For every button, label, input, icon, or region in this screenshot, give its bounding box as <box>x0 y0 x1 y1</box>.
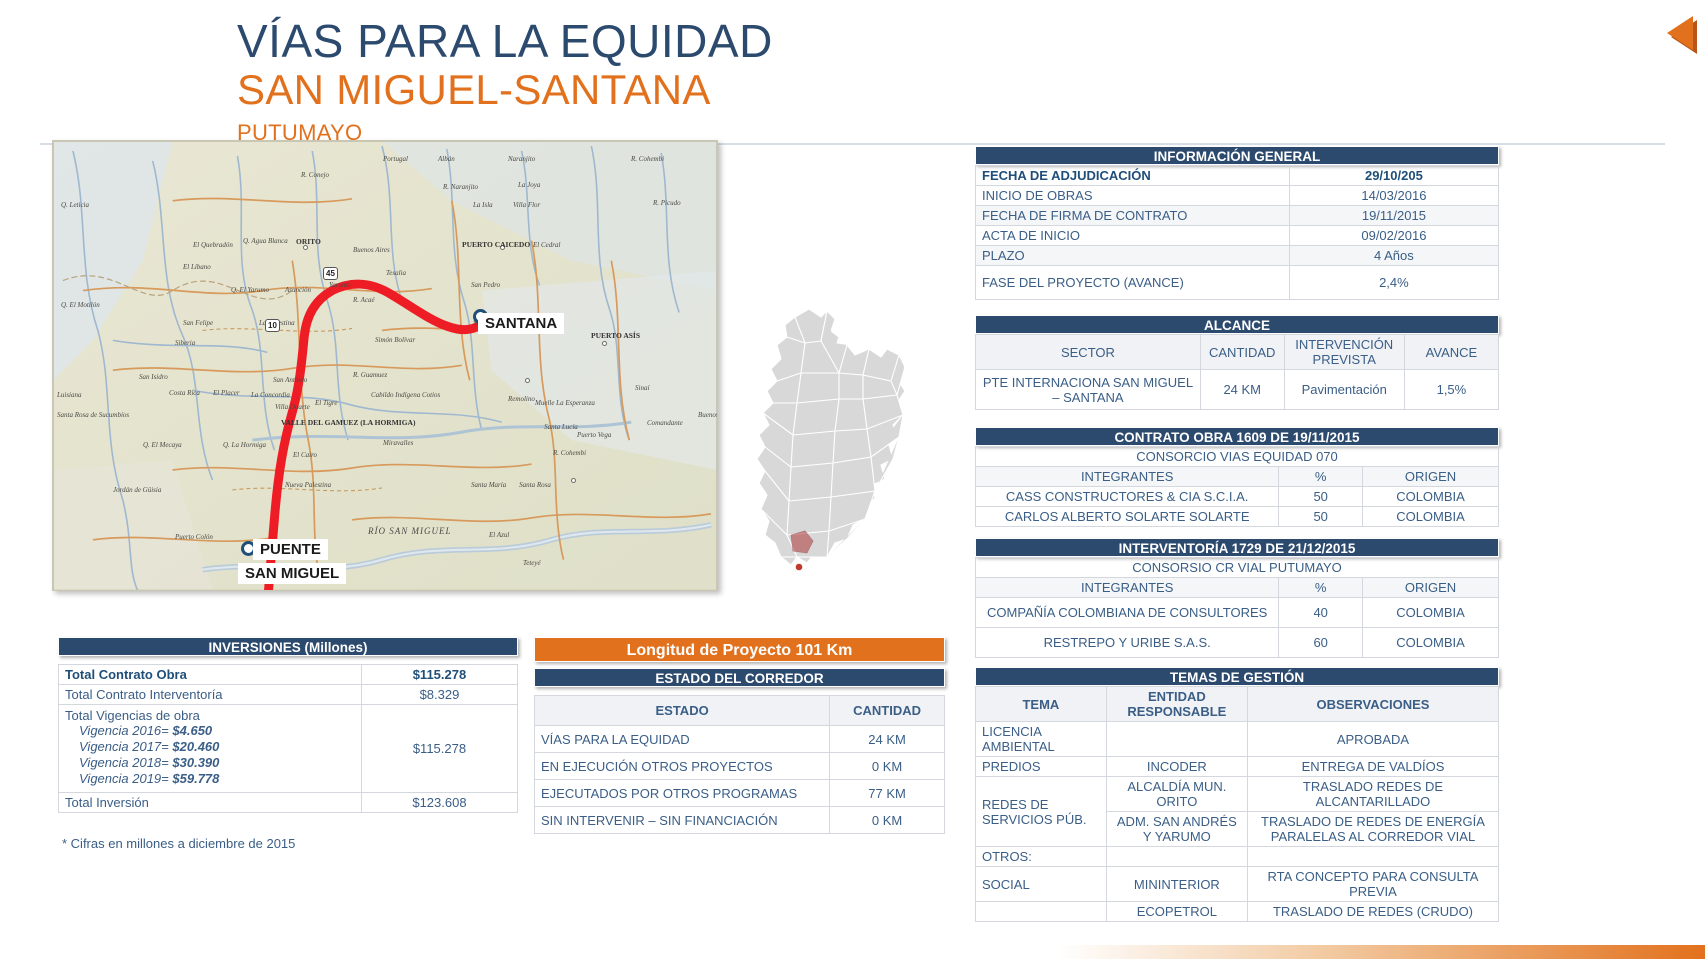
map-label: R. Cohembi <box>553 449 586 457</box>
table-row: EJECUTADOS POR OTROS PROGRAMAS 77 KM <box>535 780 945 807</box>
col-cantidad: CANTIDAD <box>830 696 945 726</box>
vigencia-label: Vigencia 2018= <box>79 755 169 770</box>
map-label: Naranjito <box>508 155 535 163</box>
col-integrantes: INTEGRANTES <box>976 467 1279 487</box>
back-arrow-icon[interactable] <box>1667 16 1693 50</box>
table-header-row: INTEGRANTES % ORIGEN <box>976 578 1499 598</box>
map-label: San Felipe <box>183 319 213 327</box>
map-label: El Azul <box>489 531 509 539</box>
table-header-row: ESTADO CANTIDAD <box>535 696 945 726</box>
map-label: Muelle La Esperanza <box>535 399 575 407</box>
map-label: R. Acaé <box>353 296 375 304</box>
map-label: R. Cohembi <box>631 155 664 163</box>
col-integrantes: INTEGRANTES <box>976 578 1279 598</box>
map-label: La Concordia <box>251 391 281 399</box>
page-header: VÍAS PARA LA EQUIDAD SAN MIGUEL-SANTANA … <box>0 0 1705 150</box>
info-value: 29/10/205 <box>1289 166 1498 186</box>
vigencia-label: Vigencia 2016= <box>79 723 169 738</box>
cell-obs: TRASLADO DE REDES (CRUDO) <box>1247 902 1498 922</box>
vigencia-value: $30.390 <box>172 755 219 770</box>
map-label: Yarumo <box>329 281 351 289</box>
info-label: FECHA DE ADJUDICACIÓN <box>976 166 1290 186</box>
map-label: El Placer <box>213 389 240 397</box>
info-value: 2,4% <box>1289 266 1498 300</box>
cell-cantidad: 24 KM <box>1200 370 1284 410</box>
map-label: Q. Leticia <box>61 201 89 209</box>
map-label: Nueva Palestina <box>285 481 325 489</box>
page-subtitle: SAN MIGUEL-SANTANA <box>237 66 711 114</box>
info-general-header: INFORMACIÓN GENERAL <box>975 146 1499 165</box>
col-entidad: ENTIDAD RESPONSABLE <box>1106 687 1247 722</box>
map-label: Siberia <box>175 339 195 347</box>
table-row: LICENCIA AMBIENTAL APROBADA <box>976 722 1499 757</box>
inv-vigencias-cell: Total Vigencias de obra Vigencia 2016= $… <box>59 705 362 793</box>
cell-pct: 60 <box>1279 628 1363 658</box>
col-intervencion: INTERVENCIÓN PREVISTA <box>1284 335 1404 370</box>
table-row-vigencias: Total Vigencias de obra Vigencia 2016= $… <box>59 705 518 793</box>
info-label: INICIO DE OBRAS <box>976 186 1290 206</box>
map-label-puerto-caicedo: PUERTO CAICEDO <box>462 241 516 249</box>
map-label: Sinaí <box>635 384 649 392</box>
map-label: El Cedral <box>533 241 560 249</box>
cell-origen: COLOMBIA <box>1363 487 1499 507</box>
route-shield-45: 45 <box>323 267 338 280</box>
map-label: Villa Flor <box>513 201 537 209</box>
info-value: 14/03/2016 <box>1289 186 1498 206</box>
colombia-locator-map <box>735 295 945 605</box>
alcance-header: ALCANCE <box>975 315 1499 334</box>
col-obs: OBSERVACIONES <box>1247 687 1498 722</box>
map-town-dot <box>571 478 576 483</box>
col-avance: AVANCE <box>1404 335 1498 370</box>
table-header-row: SECTOR CANTIDAD INTERVENCIÓN PREVISTA AV… <box>976 335 1499 370</box>
vigencia-value: $20.460 <box>172 739 219 754</box>
cell-entidad: ADM. SAN ANDRÉS Y YARUMO <box>1106 812 1247 847</box>
table-row: FECHA DE ADJUDICACIÓN 29/10/205 <box>976 166 1499 186</box>
interventoria-table: CONSORSIO CR VIAL PUTUMAYO INTEGRANTES %… <box>975 557 1499 658</box>
vigencia-label: Vigencia 2017= <box>79 739 169 754</box>
estado-corredor-header: ESTADO DEL CORREDOR <box>534 668 945 687</box>
consorcio-name: CONSORCIO VIAS EQUIDAD 070 <box>976 447 1499 467</box>
map-label: Puerto Colón <box>175 533 213 541</box>
info-general-table: FECHA DE ADJUDICACIÓN 29/10/205 INICIO D… <box>975 165 1499 300</box>
table-row: VÍAS PARA LA EQUIDAD 24 KM <box>535 726 945 753</box>
cell-integrante: COMPAÑÍA COLOMBIANA DE CONSULTORES <box>976 598 1279 628</box>
cell-tema: SOCIAL <box>976 867 1107 902</box>
table-row: PTE INTERNACIONA SAN MIGUEL – SANTANA 24… <box>976 370 1499 410</box>
map-label: Jordán de Güisia <box>113 486 147 494</box>
table-row: ECOPETROL TRASLADO DE REDES (CRUDO) <box>976 902 1499 922</box>
map-label: Buenos Aires <box>353 246 390 254</box>
map-label: R. Guamuez <box>353 371 387 379</box>
info-label: FECHA DE FIRMA DE CONTRATO <box>976 206 1290 226</box>
bottom-accent-bar <box>0 945 1705 959</box>
table-row: CONSORSIO CR VIAL PUTUMAYO <box>976 558 1499 578</box>
contrato-obra-header: CONTRATO OBRA 1609 DE 19/11/2015 <box>975 427 1499 446</box>
col-origen: ORIGEN <box>1363 578 1499 598</box>
col-pct: % <box>1279 467 1363 487</box>
cell-obs: TRASLADO DE REDES DE ENERGÍA PARALELAS A… <box>1247 812 1498 847</box>
map-label: Villa Duarte <box>275 403 301 411</box>
table-row: COMPAÑÍA COLOMBIANA DE CONSULTORES 40 CO… <box>976 598 1499 628</box>
info-label: PLAZO <box>976 246 1290 266</box>
map-label: Buenos <box>698 411 718 419</box>
col-tema: TEMA <box>976 687 1107 722</box>
cell-entidad: ECOPETROL <box>1106 902 1247 922</box>
table-row: REDES DE SERVICIOS PÚB. ALCALDÍA MUN. OR… <box>976 777 1499 812</box>
inversiones-table: Total Contrato Obra $115.278 Total Contr… <box>58 664 518 813</box>
vigencia-label: Vigencia 2019= <box>79 771 169 786</box>
cell-entidad <box>1106 722 1247 757</box>
map-label: El Cairo <box>293 451 317 459</box>
vigencia-2017-row: Vigencia 2017= $20.460 <box>65 739 355 755</box>
longitud-banner: Longitud de Proyecto 101 Km <box>534 637 945 662</box>
route-map: ORITO PUERTO CAICEDO PUERTO ASÍS VALLE D… <box>52 140 718 591</box>
cell-tema: PREDIOS <box>976 757 1107 777</box>
alcance-table: SECTOR CANTIDAD INTERVENCIÓN PREVISTA AV… <box>975 334 1499 410</box>
cell-cantidad: 0 KM <box>830 753 945 780</box>
cell-estado: SIN INTERVENIR – SIN FINANCIACIÓN <box>535 807 830 834</box>
map-label: Q. El Motilón <box>61 301 100 309</box>
alcance-block: ALCANCE SECTOR CANTIDAD INTERVENCIÓN PRE… <box>975 315 1499 410</box>
map-label: R. Naranjito <box>443 183 478 191</box>
inv-value: $123.608 <box>361 793 517 813</box>
map-label: Miravalles <box>383 439 413 447</box>
info-value: 19/11/2015 <box>1289 206 1498 226</box>
route-shield-10: 10 <box>265 319 280 332</box>
page-title: VÍAS PARA LA EQUIDAD <box>237 14 773 68</box>
estado-corredor-table: ESTADO CANTIDAD VÍAS PARA LA EQUIDAD 24 … <box>534 695 945 834</box>
cell-cantidad: 24 KM <box>830 726 945 753</box>
table-row: SOCIAL MININTERIOR RTA CONCEPTO PARA CON… <box>976 867 1499 902</box>
info-value: 4 Años <box>1289 246 1498 266</box>
inv-label: Total Contrato Obra <box>59 665 362 685</box>
map-label: Q. El Yarumo <box>231 286 269 294</box>
table-row: CASS CONSTRUCTORES & CIA S.C.I.A. 50 COL… <box>976 487 1499 507</box>
cell-estado: EJECUTADOS POR OTROS PROGRAMAS <box>535 780 830 807</box>
table-row: Total Contrato Obra $115.278 <box>59 665 518 685</box>
info-value: 09/02/2016 <box>1289 226 1498 246</box>
map-label: Santa Rosa <box>519 481 551 489</box>
map-label: El Tigre <box>315 399 338 407</box>
cell-tema: REDES DE SERVICIOS PÚB. <box>976 777 1107 847</box>
map-label: Cabildo Indígena Cotios <box>371 391 411 399</box>
cell-entidad: ALCALDÍA MUN. ORITO <box>1106 777 1247 812</box>
map-label: Teteyé <box>523 559 541 567</box>
inversiones-footnote: * Cifras en millones a diciembre de 2015 <box>62 836 295 851</box>
info-general-block: INFORMACIÓN GENERAL FECHA DE ADJUDICACIÓ… <box>975 146 1499 300</box>
table-row: CONSORCIO VIAS EQUIDAD 070 <box>976 447 1499 467</box>
map-label: Simón Bolívar <box>375 336 407 344</box>
cell-entidad <box>1106 847 1247 867</box>
map-label: Q. Agua Blanca <box>243 237 288 245</box>
interventoria-block: INTERVENTORÍA 1729 DE 21/12/2015 CONSORS… <box>975 538 1499 658</box>
map-label: Costa Rica <box>169 389 200 397</box>
contrato-obra-table: CONSORCIO VIAS EQUIDAD 070 INTEGRANTES %… <box>975 446 1499 527</box>
map-label: Q. La Hormiga <box>223 441 266 449</box>
cell-estado: VÍAS PARA LA EQUIDAD <box>535 726 830 753</box>
inv-label: Total Contrato Interventoría <box>59 685 362 705</box>
table-row: Total Contrato Interventoría $8.329 <box>59 685 518 705</box>
map-label: Comandante <box>647 419 683 427</box>
cell-estado: EN EJECUCIÓN OTROS PROYECTOS <box>535 753 830 780</box>
temas-gestion-header: TEMAS DE GESTIÓN <box>975 667 1499 686</box>
cell-cantidad: 77 KM <box>830 780 945 807</box>
col-sector: SECTOR <box>976 335 1201 370</box>
longitud-banner-block: Longitud de Proyecto 101 Km <box>534 637 945 662</box>
cell-obs: TRASLADO REDES DE ALCANTARILLADO <box>1247 777 1498 812</box>
interventoria-header: INTERVENTORÍA 1729 DE 21/12/2015 <box>975 538 1499 557</box>
inversiones-block: INVERSIONES (Millones) Total Contrato Ob… <box>58 637 518 813</box>
vigencia-2019-row: Vigencia 2019= $59.778 <box>65 771 355 787</box>
table-row: OTROS: <box>976 847 1499 867</box>
temas-gestion-table: TEMA ENTIDAD RESPONSABLE OBSERVACIONES L… <box>975 686 1499 922</box>
map-label-orito: ORITO <box>296 237 321 246</box>
table-row: RESTREPO Y URIBE S.A.S. 60 COLOMBIA <box>976 628 1499 658</box>
table-header-row: TEMA ENTIDAD RESPONSABLE OBSERVACIONES <box>976 687 1499 722</box>
contrato-obra-block: CONTRATO OBRA 1609 DE 19/11/2015 CONSORC… <box>975 427 1499 527</box>
vigencia-value: $4.650 <box>172 723 212 738</box>
map-label: Puerto Vega <box>577 431 611 439</box>
cell-pct: 50 <box>1279 487 1363 507</box>
map-label-rio-san-miguel: RÍO SAN MIGUEL <box>368 526 452 536</box>
map-base-graphic <box>53 141 717 591</box>
estado-corredor-block: ESTADO DEL CORREDOR ESTADO CANTIDAD VÍAS… <box>534 668 945 834</box>
map-label: Santa Rosa de Sucumbíos <box>57 411 97 419</box>
table-row: PREDIOS INCODER ENTREGA DE VALDÍOS <box>976 757 1499 777</box>
map-label: Luisiana <box>57 391 82 399</box>
map-label: Q. El Mecaya <box>143 441 182 449</box>
map-label: R. Conejo <box>301 171 329 179</box>
cell-cantidad: 0 KM <box>830 807 945 834</box>
table-row: CARLOS ALBERTO SOLARTE SOLARTE 50 COLOMB… <box>976 507 1499 527</box>
map-label: Santa María <box>471 481 503 489</box>
map-label: Portugal <box>383 155 408 163</box>
table-row: ACTA DE INICIO 09/02/2016 <box>976 226 1499 246</box>
map-citylabel-san-miguel: SAN MIGUEL <box>238 563 346 584</box>
cell-integrante: RESTREPO Y URIBE S.A.S. <box>976 628 1279 658</box>
col-cantidad: CANTIDAD <box>1200 335 1284 370</box>
info-label: FASE DEL PROYECTO (AVANCE) <box>976 266 1290 300</box>
col-origen: ORIGEN <box>1363 467 1499 487</box>
map-label: Tesalia <box>386 269 406 277</box>
cell-pct: 50 <box>1279 507 1363 527</box>
cell-entidad: INCODER <box>1106 757 1247 777</box>
cell-obs <box>1247 847 1498 867</box>
map-label: Asunción <box>285 286 311 294</box>
map-label: San Antonio <box>273 376 307 384</box>
colombia-outline-icon <box>735 295 945 605</box>
inv-value: $115.278 <box>361 665 517 685</box>
vigencia-2016-row: Vigencia 2016= $4.650 <box>65 723 355 739</box>
map-label-valle-gamuez: VALLE DEL GAMUEZ (LA HORMIGA) <box>281 419 377 427</box>
table-row: PLAZO 4 Años <box>976 246 1499 266</box>
map-label: Santa Lucía <box>543 423 579 431</box>
temas-gestion-block: TEMAS DE GESTIÓN TEMA ENTIDAD RESPONSABL… <box>975 667 1499 922</box>
table-row: Total Inversión $123.608 <box>59 793 518 813</box>
inv-value: $8.329 <box>361 685 517 705</box>
cell-integrante: CARLOS ALBERTO SOLARTE SOLARTE <box>976 507 1279 527</box>
map-label: La Isla <box>473 201 493 209</box>
cell-obs: APROBADA <box>1247 722 1498 757</box>
inv-value: $115.278 <box>361 705 517 793</box>
map-town-dot <box>525 378 530 383</box>
map-label: Remolino <box>508 395 535 403</box>
map-citylabel-santana: SANTANA <box>478 313 564 334</box>
map-citylabel-puente: PUENTE <box>253 539 328 560</box>
table-row: EN EJECUCIÓN OTROS PROYECTOS 0 KM <box>535 753 945 780</box>
map-label: La Joya <box>518 181 540 189</box>
inv-label: Total Vigencias de obra <box>65 708 200 723</box>
cell-tema <box>976 902 1107 922</box>
cell-obs: RTA CONCEPTO PARA CONSULTA PREVIA <box>1247 867 1498 902</box>
cell-integrante: CASS CONSTRUCTORES & CIA S.C.I.A. <box>976 487 1279 507</box>
consorcio-name: CONSORSIO CR VIAL PUTUMAYO <box>976 558 1499 578</box>
cell-intervencion: Pavimentación <box>1284 370 1404 410</box>
vigencia-value: $59.778 <box>172 771 219 786</box>
cell-sector: PTE INTERNACIONA SAN MIGUEL – SANTANA <box>976 370 1201 410</box>
map-label: San Pedro <box>471 281 500 289</box>
cell-obs: ENTREGA DE VALDÍOS <box>1247 757 1498 777</box>
table-row: SIN INTERVENIR – SIN FINANCIACIÓN 0 KM <box>535 807 945 834</box>
cell-tema: OTROS: <box>976 847 1107 867</box>
col-pct: % <box>1279 578 1363 598</box>
map-label: San Isidro <box>139 373 168 381</box>
map-label: R. Picudo <box>653 199 681 207</box>
map-label: El Líbano <box>183 263 211 271</box>
info-label: ACTA DE INICIO <box>976 226 1290 246</box>
cell-tema: LICENCIA AMBIENTAL <box>976 722 1107 757</box>
cell-entidad: MININTERIOR <box>1106 867 1247 902</box>
map-town-dot <box>602 341 607 346</box>
cell-origen: COLOMBIA <box>1363 628 1499 658</box>
inversiones-header: INVERSIONES (Millones) <box>58 637 518 656</box>
map-label-puerto-asis: PUERTO ASÍS <box>591 331 640 340</box>
inv-label: Total Inversión <box>59 793 362 813</box>
map-label: El Quebradón <box>193 241 233 249</box>
table-row: FECHA DE FIRMA DE CONTRATO 19/11/2015 <box>976 206 1499 226</box>
table-row: FASE DEL PROYECTO (AVANCE) 2,4% <box>976 266 1499 300</box>
cell-avance: 1,5% <box>1404 370 1498 410</box>
table-header-row: INTEGRANTES % ORIGEN <box>976 467 1499 487</box>
cell-origen: COLOMBIA <box>1363 598 1499 628</box>
col-estado: ESTADO <box>535 696 830 726</box>
table-row: INICIO DE OBRAS 14/03/2016 <box>976 186 1499 206</box>
vigencia-2018-row: Vigencia 2018= $30.390 <box>65 755 355 771</box>
cell-origen: COLOMBIA <box>1363 507 1499 527</box>
map-label: Albán <box>438 155 455 163</box>
cell-pct: 40 <box>1279 598 1363 628</box>
